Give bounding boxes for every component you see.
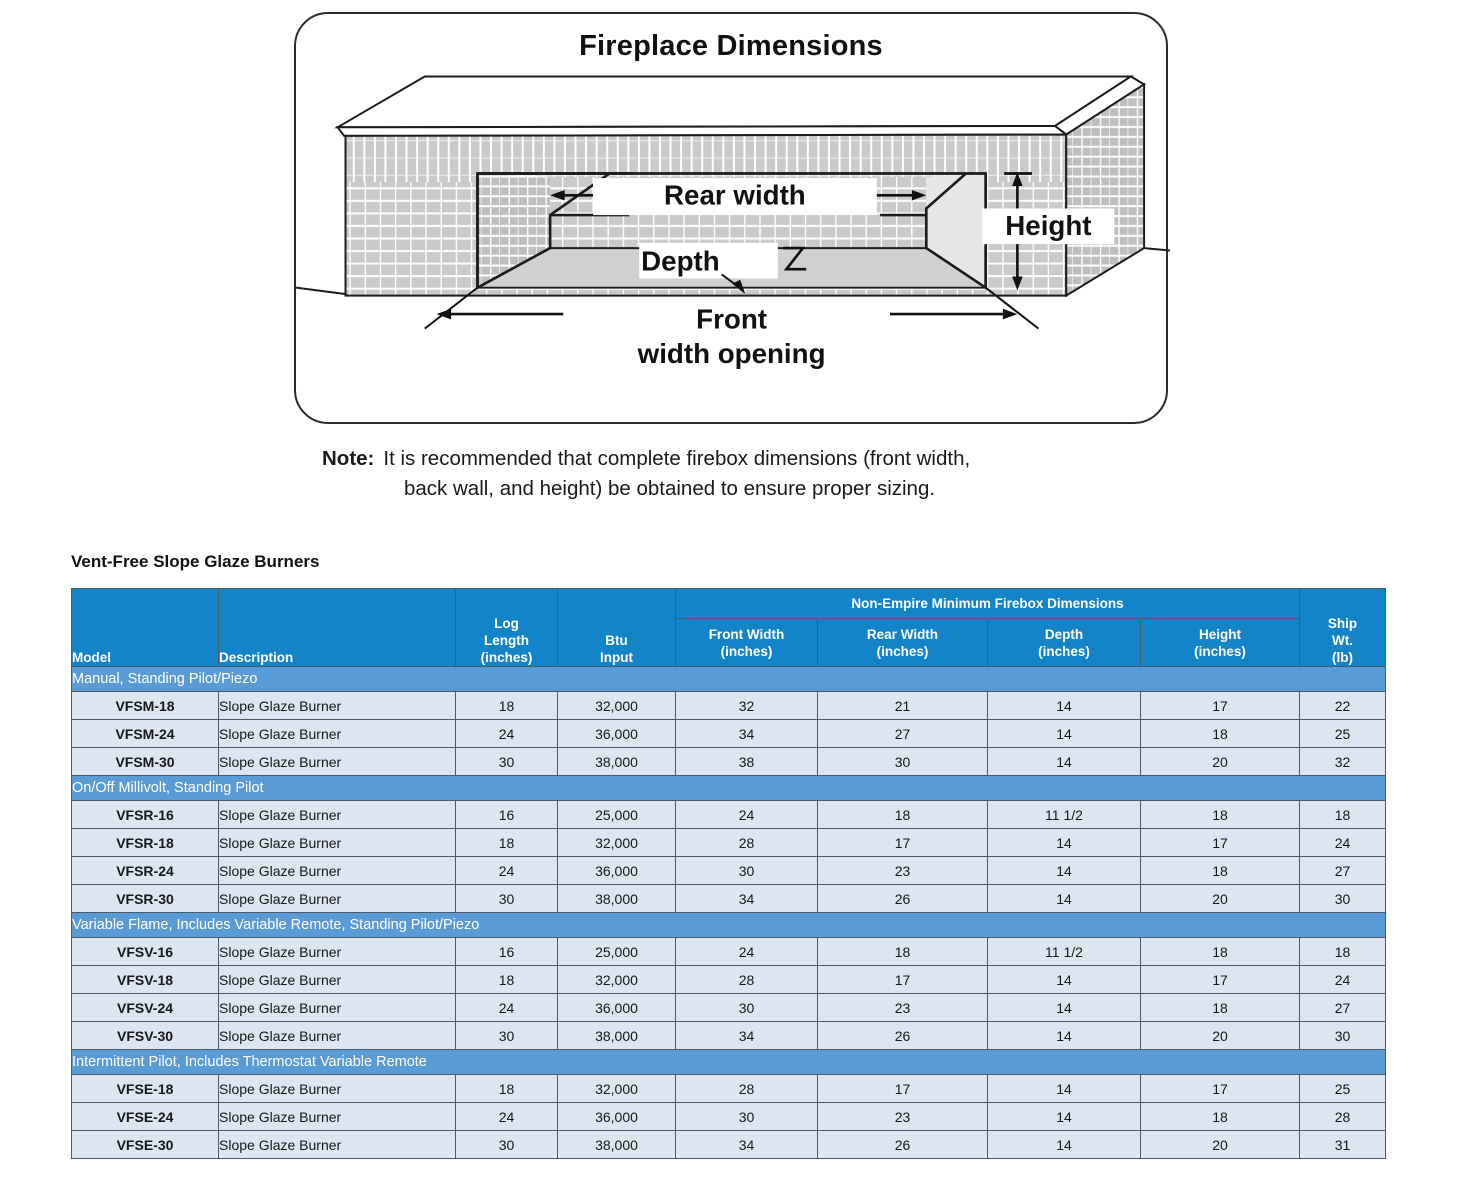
cell-front-width: 28 [676,1075,818,1103]
table-row: VFSR-18Slope Glaze Burner1832,0002817141… [72,829,1386,857]
col-header-front-width-l2: (inches) [721,644,773,659]
cell-depth: 14 [988,1022,1141,1050]
cell-log-length: 18 [456,966,558,994]
cell-model: VFSV-16 [72,938,219,966]
cell-rear-width: 17 [818,1075,988,1103]
cell-btu: 38,000 [558,1131,676,1159]
cell-ship-wt: 30 [1300,885,1386,913]
cell-ship-wt: 30 [1300,1022,1386,1050]
cell-log-length: 16 [456,801,558,829]
cell-depth: 11 1/2 [988,938,1141,966]
depth-label: Depth [641,246,720,277]
cell-description: Slope Glaze Burner [219,1022,456,1050]
cell-model: VFSE-30 [72,1131,219,1159]
cell-log-length: 30 [456,885,558,913]
cell-front-width: 34 [676,1022,818,1050]
cell-rear-width: 26 [818,885,988,913]
cell-rear-width: 26 [818,1022,988,1050]
cell-model: VFSR-24 [72,857,219,885]
cell-height: 20 [1141,1022,1300,1050]
col-header-height-l2: (inches) [1194,644,1246,659]
table-group-row: Variable Flame, Includes Variable Remote… [72,913,1386,938]
cell-rear-width: 27 [818,720,988,748]
cell-rear-width: 17 [818,966,988,994]
cell-description: Slope Glaze Burner [219,1103,456,1131]
table-row: VFSE-30Slope Glaze Burner3038,0003426142… [72,1131,1386,1159]
cell-description: Slope Glaze Burner [219,938,456,966]
fireplace-dimensions-panel: Fireplace Dimensions [294,12,1168,424]
cell-depth: 14 [988,994,1141,1022]
cell-height: 18 [1141,1103,1300,1131]
cell-description: Slope Glaze Burner [219,829,456,857]
col-header-btu-l1: Btu [605,633,628,648]
cell-log-length: 30 [456,748,558,776]
cell-depth: 14 [988,720,1141,748]
cell-rear-width: 23 [818,994,988,1022]
col-header-log-length-l2: Length [484,633,529,648]
col-header-depth: Depth (inches) [988,619,1141,667]
col-header-height: Height (inches) [1141,619,1300,667]
table-group-label: Intermittent Pilot, Includes Thermostat … [72,1050,1386,1075]
cell-ship-wt: 25 [1300,720,1386,748]
cell-height: 18 [1141,938,1300,966]
cell-description: Slope Glaze Burner [219,994,456,1022]
cell-height: 18 [1141,720,1300,748]
cell-rear-width: 26 [818,1131,988,1159]
cell-depth: 14 [988,692,1141,720]
table-header-group-row: Model Description Log Length (inches) Bt… [72,589,1386,619]
cell-ship-wt: 25 [1300,1075,1386,1103]
cell-depth: 14 [988,1103,1141,1131]
col-header-depth-l1: Depth [1045,627,1083,642]
cell-ship-wt: 18 [1300,801,1386,829]
cell-description: Slope Glaze Burner [219,748,456,776]
cell-btu: 32,000 [558,829,676,857]
col-header-btu-l2: Input [600,650,633,665]
cell-btu: 32,000 [558,692,676,720]
cell-rear-width: 18 [818,801,988,829]
table-row: VFSR-16Slope Glaze Burner1625,000241811 … [72,801,1386,829]
col-header-ship-wt-l2: Wt. [1332,633,1353,648]
cell-front-width: 24 [676,801,818,829]
col-header-front-width-l1: Front Width [709,627,785,642]
cell-model: VFSV-30 [72,1022,219,1050]
table-row: VFSR-24Slope Glaze Burner2436,0003023141… [72,857,1386,885]
cell-model: VFSR-30 [72,885,219,913]
cell-model: VFSE-18 [72,1075,219,1103]
cell-front-width: 34 [676,720,818,748]
table-row: VFSV-30Slope Glaze Burner3038,0003426142… [72,1022,1386,1050]
col-header-btu-input: Btu Input [558,589,676,667]
cell-depth: 14 [988,966,1141,994]
rear-width-label: Rear width [664,180,806,211]
cell-front-width: 30 [676,1103,818,1131]
cell-log-length: 18 [456,692,558,720]
cell-height: 20 [1141,885,1300,913]
cell-depth: 14 [988,1075,1141,1103]
cell-rear-width: 18 [818,938,988,966]
cell-description: Slope Glaze Burner [219,720,456,748]
table-row: VFSV-18Slope Glaze Burner1832,0002817141… [72,966,1386,994]
cell-rear-width: 30 [818,748,988,776]
cell-log-length: 16 [456,938,558,966]
cell-model: VFSR-16 [72,801,219,829]
cell-btu: 25,000 [558,938,676,966]
cell-log-length: 24 [456,857,558,885]
note-line-1: It is recommended that complete firebox … [383,447,970,470]
cell-btu: 38,000 [558,885,676,913]
cell-front-width: 30 [676,994,818,1022]
cell-front-width: 34 [676,1131,818,1159]
cell-log-length: 18 [456,829,558,857]
cell-log-length: 24 [456,1103,558,1131]
cell-btu: 36,000 [558,720,676,748]
col-header-front-width: Front Width (inches) [676,619,818,667]
col-header-log-length: Log Length (inches) [456,589,558,667]
cell-model: VFSR-18 [72,829,219,857]
cell-height: 17 [1141,829,1300,857]
front-label-line1: Front [696,304,767,335]
table-row: VFSE-24Slope Glaze Burner2436,0003023141… [72,1103,1386,1131]
col-header-model: Model [72,589,219,667]
note-label: Note: [322,447,374,470]
cell-model: VFSV-24 [72,994,219,1022]
cell-ship-wt: 31 [1300,1131,1386,1159]
cell-rear-width: 21 [818,692,988,720]
table-group-label: Variable Flame, Includes Variable Remote… [72,913,1386,938]
cell-front-width: 30 [676,857,818,885]
cell-btu: 36,000 [558,857,676,885]
cell-description: Slope Glaze Burner [219,801,456,829]
cell-ship-wt: 24 [1300,966,1386,994]
cell-model: VFSV-18 [72,966,219,994]
cell-height: 20 [1141,1131,1300,1159]
cell-log-length: 18 [456,1075,558,1103]
cell-model: VFSE-24 [72,1103,219,1131]
cell-height: 20 [1141,748,1300,776]
cell-depth: 14 [988,748,1141,776]
cell-model: VFSM-24 [72,720,219,748]
note-line-2: back wall, and height) be obtained to en… [404,474,1182,504]
table-row: VFSE-18Slope Glaze Burner1832,0002817141… [72,1075,1386,1103]
cell-log-length: 30 [456,1131,558,1159]
cell-front-width: 32 [676,692,818,720]
table-row: VFSM-18Slope Glaze Burner1832,0003221141… [72,692,1386,720]
front-label-line2: width opening [637,338,826,369]
cell-front-width: 28 [676,966,818,994]
cell-btu: 25,000 [558,801,676,829]
cell-ship-wt: 18 [1300,938,1386,966]
col-header-rear-width-l2: (inches) [877,644,929,659]
cell-depth: 11 1/2 [988,801,1141,829]
col-header-ship-wt-l3: (lb) [1332,650,1353,665]
cell-front-width: 24 [676,938,818,966]
cell-ship-wt: 22 [1300,692,1386,720]
cell-depth: 14 [988,829,1141,857]
cell-model: VFSM-30 [72,748,219,776]
cell-depth: 14 [988,1131,1141,1159]
cell-height: 17 [1141,1075,1300,1103]
cell-ship-wt: 27 [1300,857,1386,885]
cell-btu: 36,000 [558,1103,676,1131]
col-header-ship-wt-l1: Ship [1328,616,1357,631]
cell-model: VFSM-18 [72,692,219,720]
cell-rear-width: 23 [818,857,988,885]
cell-btu: 32,000 [558,966,676,994]
cell-rear-width: 23 [818,1103,988,1131]
fireplace-illustration: Rear width Height Depth [296,58,1170,418]
cell-depth: 14 [988,857,1141,885]
cell-description: Slope Glaze Burner [219,1075,456,1103]
cell-ship-wt: 32 [1300,748,1386,776]
table-group-row: Intermittent Pilot, Includes Thermostat … [72,1050,1386,1075]
cell-rear-width: 17 [818,829,988,857]
cell-btu: 38,000 [558,748,676,776]
table-group-label: On/Off Millivolt, Standing Pilot [72,776,1386,801]
table-heading: Vent-Free Slope Glaze Burners [71,552,319,572]
note-block: Note:It is recommended that complete fir… [322,444,1182,504]
cell-description: Slope Glaze Burner [219,692,456,720]
col-header-description: Description [219,589,456,667]
col-header-rear-width-l1: Rear Width [867,627,938,642]
table-group-row: On/Off Millivolt, Standing Pilot [72,776,1386,801]
cell-log-length: 24 [456,720,558,748]
cell-depth: 14 [988,885,1141,913]
cell-btu: 36,000 [558,994,676,1022]
table-group-row: Manual, Standing Pilot/Piezo [72,667,1386,692]
cell-height: 18 [1141,857,1300,885]
cell-height: 17 [1141,966,1300,994]
cell-btu: 38,000 [558,1022,676,1050]
cell-log-length: 30 [456,1022,558,1050]
rear-width-dimension: Rear width [550,178,926,215]
cell-ship-wt: 28 [1300,1103,1386,1131]
table-row: VFSM-24Slope Glaze Burner2436,0003427141… [72,720,1386,748]
table-row: VFSM-30Slope Glaze Burner3038,0003830142… [72,748,1386,776]
height-label: Height [1005,210,1091,241]
cell-front-width: 38 [676,748,818,776]
table-row: VFSV-24Slope Glaze Burner2436,0003023141… [72,994,1386,1022]
cell-description: Slope Glaze Burner [219,1131,456,1159]
col-header-depth-l2: (inches) [1038,644,1090,659]
cell-ship-wt: 24 [1300,829,1386,857]
cell-description: Slope Glaze Burner [219,885,456,913]
table-row: VFSV-16Slope Glaze Burner1625,000241811 … [72,938,1386,966]
spec-table: Model Description Log Length (inches) Bt… [71,588,1386,1159]
col-header-firebox-group: Non-Empire Minimum Firebox Dimensions [676,589,1300,619]
cell-front-width: 28 [676,829,818,857]
table-group-label: Manual, Standing Pilot/Piezo [72,667,1386,692]
cell-description: Slope Glaze Burner [219,857,456,885]
col-header-log-length-l1: Log [494,616,519,631]
cell-ship-wt: 27 [1300,994,1386,1022]
front-width-dimension: Front width opening [425,288,1039,369]
cell-height: 17 [1141,692,1300,720]
cell-height: 18 [1141,994,1300,1022]
col-header-ship-wt: Ship Wt. (lb) [1300,589,1386,667]
table-body: Manual, Standing Pilot/PiezoVFSM-18Slope… [72,667,1386,1159]
col-header-rear-width: Rear Width (inches) [818,619,988,667]
col-header-height-l1: Height [1199,627,1241,642]
cell-description: Slope Glaze Burner [219,966,456,994]
cell-front-width: 34 [676,885,818,913]
table-row: VFSR-30Slope Glaze Burner3038,0003426142… [72,885,1386,913]
col-header-log-length-l3: (inches) [481,650,533,665]
cell-height: 18 [1141,801,1300,829]
cell-log-length: 24 [456,994,558,1022]
cell-btu: 32,000 [558,1075,676,1103]
